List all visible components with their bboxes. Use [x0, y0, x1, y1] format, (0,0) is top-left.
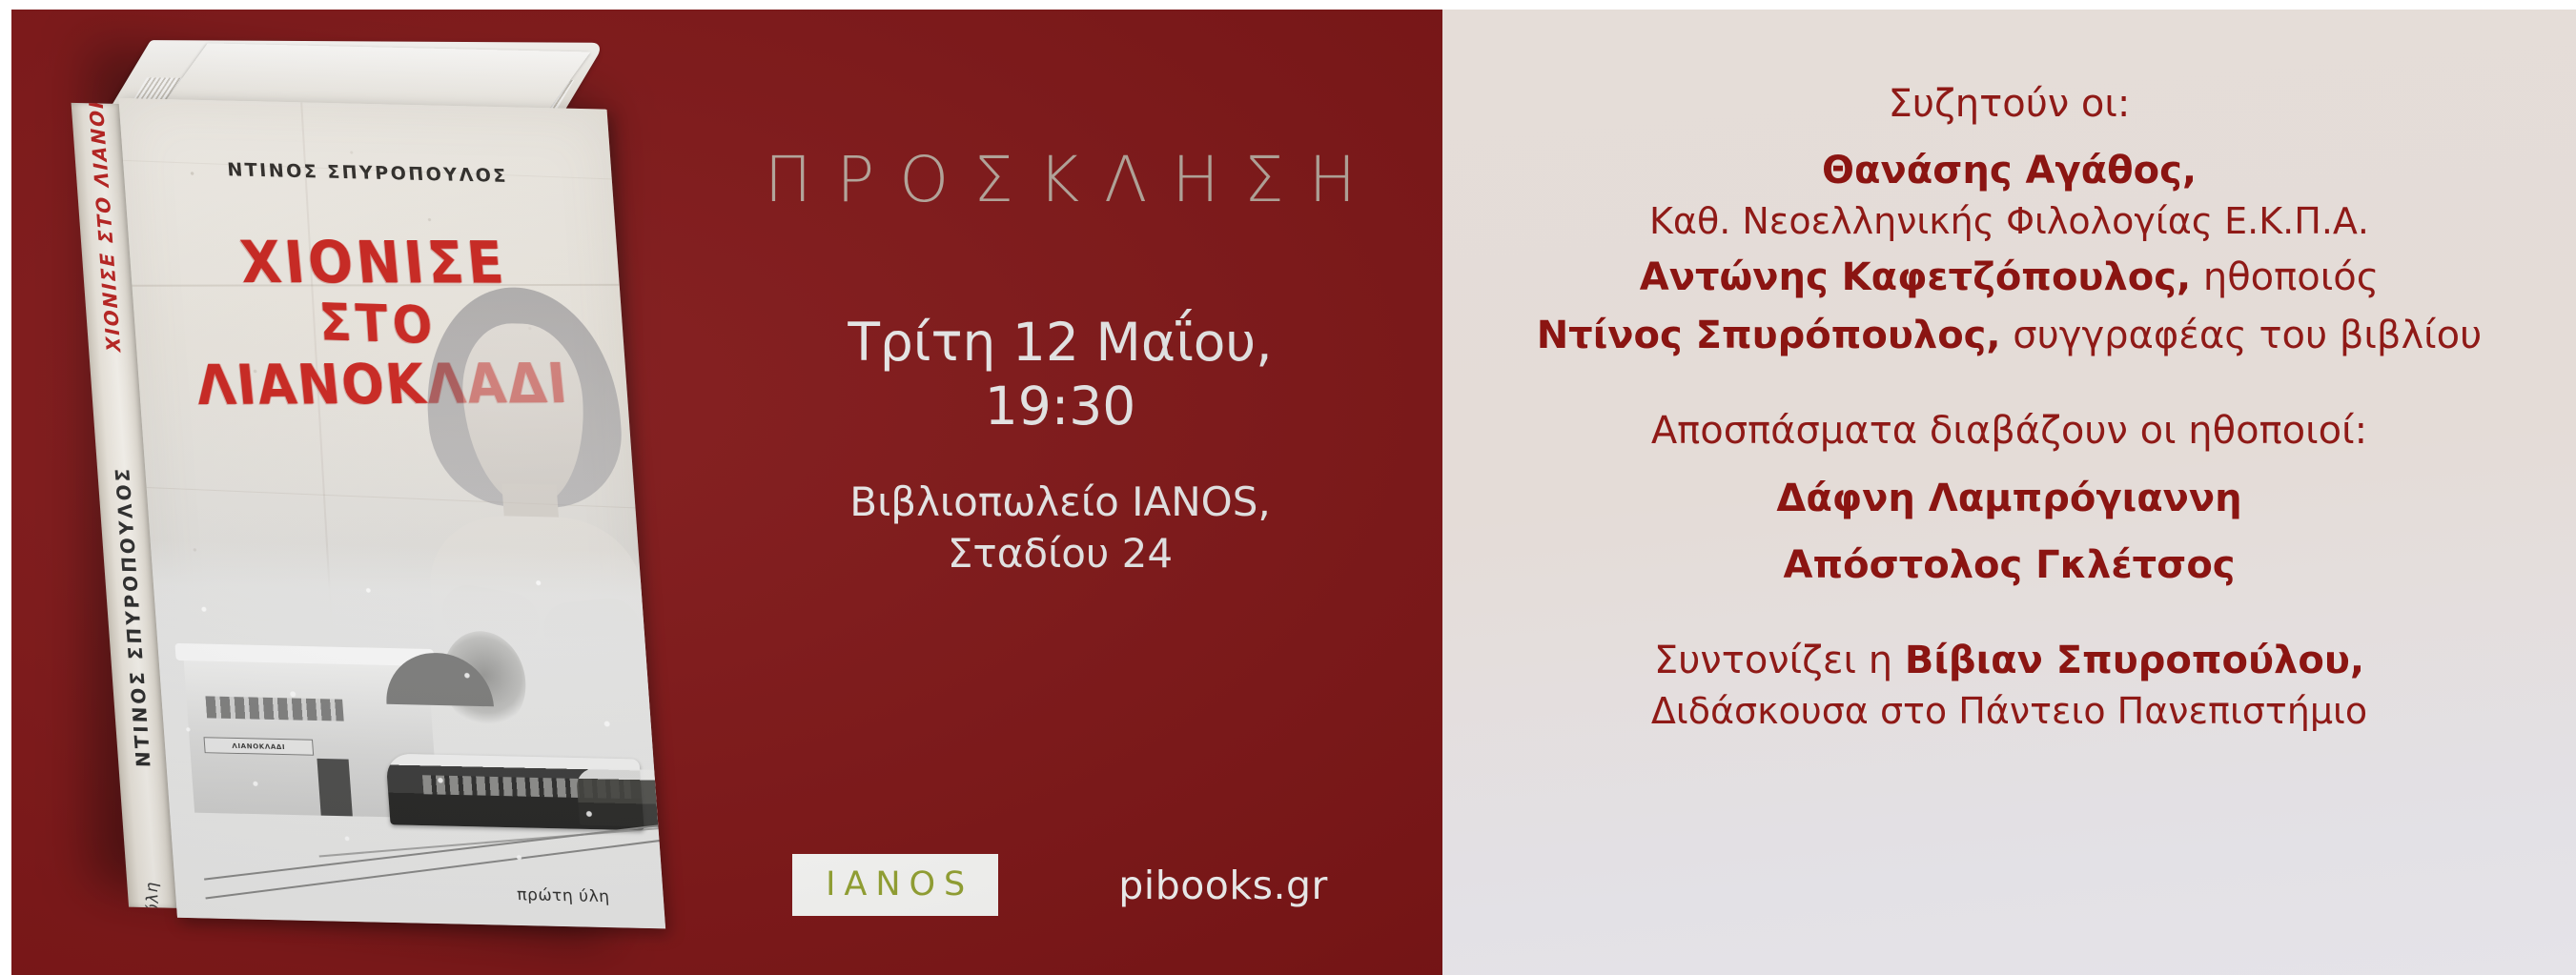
moderator: Συντονίζει η Βίβιαν Σπυροπούλου, Διδάσκο… [1442, 635, 2576, 736]
reader-2-name: Απόστολος Γκλέτσος [1783, 543, 2235, 587]
event-invitation-poster: πρώτη ύλη ΝΤΙΝΟΣ ΣΠΥΡΟΠΟΥΛΟΣ ΧΙΟΝΙΣΕ ΣΤΟ… [0, 0, 2576, 975]
invitation-footer: IANOS pibooks.gr [679, 854, 1441, 916]
reader-1: Δάφνη Λαμπρόγιαννη [1442, 473, 2576, 524]
ianos-logo[interactable]: IANOS [792, 854, 998, 916]
station-name-sign: ΛΙΑΝΟΚΛΑΔΙ [203, 737, 314, 756]
venue-name: Βιβλιοπωλείο IANOS, [849, 477, 1270, 528]
cover-author-name: ΝΤΙΝΟΣ ΣΠΥΡΟΠΟΥΛΟΣ [123, 157, 613, 190]
spine-publisher-label: πρώτη ύλη [142, 882, 168, 908]
discussant-1-name: Θανάσης Αγάθος, [1822, 149, 2197, 193]
spine-title-label: ΧΙΟΝΙΣΕ ΣΤΟ ΛΙΑΝΟΚΛΑΔΙ [79, 103, 125, 353]
discussant-2: Αντώνης Καφετζόπουλος, ηθοποιός [1442, 252, 2576, 303]
reader-2: Απόστολος Γκλέτσος [1442, 539, 2576, 591]
book-3d: πρώτη ύλη ΝΤΙΝΟΣ ΣΠΥΡΟΠΟΥΛΟΣ ΧΙΟΝΙΣΕ ΣΤΟ… [67, 42, 666, 938]
readers-heading-text: Αποσπάσματα διαβάζουν οι ηθοποιοί: [1651, 409, 2367, 453]
readers-heading: Αποσπάσματα διαβάζουν οι ηθοποιοί: [1442, 405, 2576, 457]
ianos-logo-text: IANOS [817, 868, 973, 902]
invitation-column: ΠΡΟΣΚΛΗΣΗ Τρίτη 12 Μαΐου, 19:30 Βιβλιοπω… [679, 10, 1441, 975]
discussant-2-role: ηθοποιός [2191, 255, 2379, 299]
moderator-prefix: Συντονίζει η [1654, 639, 1905, 682]
event-time: 19:30 [848, 375, 1272, 438]
cover-publisher-label: πρώτη ύλη [517, 885, 611, 906]
station-windows [205, 696, 343, 721]
book-front-cover: ΝΤΙΝΟΣ ΣΠΥΡΟΠΟΥΛΟΣ ΧΙΟΝΙΣΕ ΣΤΟ ΛΙΑΝΟΚΛΑΔ… [118, 98, 665, 928]
station-door [317, 759, 354, 817]
event-venue: Βιβλιοπωλείο IANOS, Σταδίου 24 [849, 477, 1270, 579]
discussant-3: Ντίνος Σπυρόπουλος, συγγραφέας του βιβλί… [1442, 310, 2576, 361]
discussant-3-name: Ντίνος Σπυρόπουλος, [1537, 314, 2001, 357]
discussants-heading: Συζητούν οι: [1442, 78, 2576, 130]
cover-snowy-station-photo: ΛΙΑΝΟΚΛΑΔΙ [151, 540, 665, 928]
reader-1-name: Δάφνη Λαμπρόγιαννη [1776, 477, 2241, 520]
right-participants-panel: Συζητούν οι: Θανάσης Αγάθος, Καθ. Νεοελλ… [1442, 10, 2576, 975]
moderator-name: Βίβιαν Σπυροπούλου, [1905, 639, 2364, 682]
moderator-role: Διδάσκουσα στο Πάντειο Πανεπιστήμιο [1651, 690, 2367, 732]
website-link[interactable]: pibooks.gr [1118, 863, 1328, 908]
discussant-3-role: συγγραφέας του βιβλίου [2001, 314, 2483, 357]
cover-title-line-1: ΧΙΟΝΙΣΕ [147, 234, 601, 293]
book-mockup: πρώτη ύλη ΝΤΙΝΟΣ ΣΠΥΡΟΠΟΥΛΟΣ ΧΙΟΝΙΣΕ ΣΤΟ… [38, 17, 648, 961]
venue-address: Σταδίου 24 [849, 528, 1270, 579]
left-red-panel: πρώτη ύλη ΝΤΙΝΟΣ ΣΠΥΡΟΠΟΥΛΟΣ ΧΙΟΝΙΣΕ ΣΤΟ… [11, 10, 1442, 975]
discussants-heading-text: Συζητούν οι: [1889, 82, 2131, 126]
event-datetime: Τρίτη 12 Μαΐου, 19:30 [848, 311, 1272, 438]
train-secondary [576, 768, 665, 827]
discussant-1: Θανάσης Αγάθος, Καθ. Νεοελληνικής Φιλολο… [1442, 145, 2576, 246]
invitation-title: ΠΡΟΣΚΛΗΣΗ [740, 149, 1380, 212]
railway-track [204, 821, 666, 880]
discussant-1-role: Καθ. Νεοελληνικής Φιλολογίας Ε.Κ.Π.Α. [1649, 200, 2369, 242]
discussant-2-name: Αντώνης Καφετζόπουλος, [1640, 255, 2191, 299]
event-date: Τρίτη 12 Μαΐου, [848, 311, 1272, 375]
